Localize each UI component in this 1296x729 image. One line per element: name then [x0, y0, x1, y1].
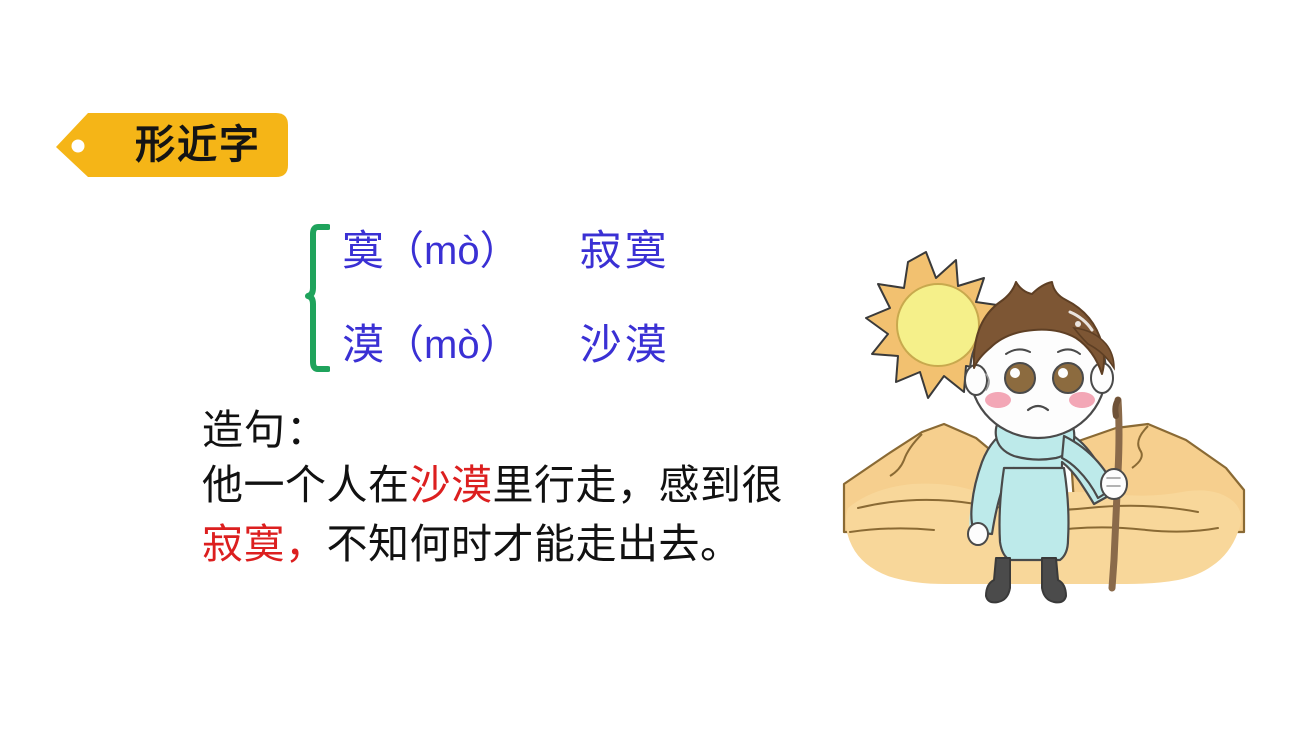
- tag-label: 形近字: [118, 113, 278, 177]
- green-brace-icon: [300, 222, 330, 374]
- vocab-character: 漠: [342, 324, 384, 366]
- section-tag: 形近字: [56, 113, 288, 177]
- sentence-line: 他一个人在沙漠里行走，感到很: [202, 456, 842, 514]
- vocab-row: 漠 （mò） 沙漠: [342, 316, 670, 374]
- sentence-segment-highlight: 寂寞，: [202, 521, 327, 567]
- right-hand-icon: [1101, 469, 1127, 499]
- vocab-pinyin: （mò）: [384, 325, 520, 365]
- sentence-heading: 造句：: [202, 404, 842, 456]
- sentence-line: 寂寞，不知何时才能走出去。: [202, 515, 842, 573]
- sentence-segment-highlight: 沙漠: [410, 462, 493, 508]
- vocab-pinyin: （mò）: [384, 231, 520, 271]
- desert-boy-illustration: [826, 232, 1250, 632]
- vocab-word: 寂寞: [580, 230, 670, 272]
- sentence-segment: 他一个人在: [202, 462, 410, 508]
- vocab-row: 寞 （mò） 寂寞: [342, 222, 670, 280]
- slide-canvas: 形近字 寞 （mò） 寂寞 漠 （mò） 沙漠 造句： 他一个人在沙漠里行走，感…: [0, 0, 1296, 729]
- vocab-word: 沙漠: [580, 324, 670, 366]
- vocab-character: 寞: [342, 230, 384, 272]
- sentence-segment: 不知何时才能走出去。: [327, 521, 742, 567]
- sentence-block: 造句： 他一个人在沙漠里行走，感到很 寂寞，不知何时才能走出去。: [202, 404, 842, 573]
- sentence-segment: 里行走，感到很: [493, 462, 784, 508]
